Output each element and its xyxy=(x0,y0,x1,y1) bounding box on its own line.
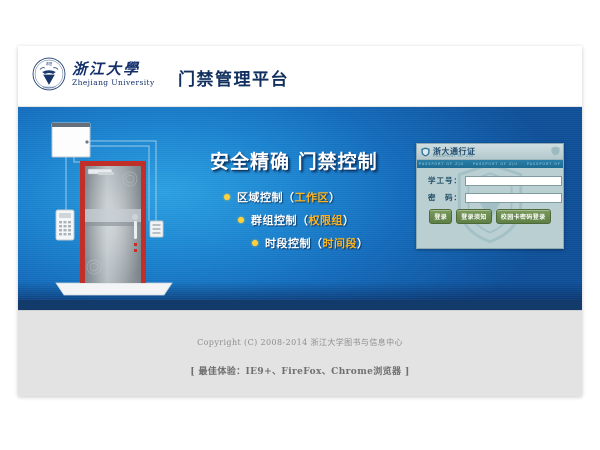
shield-icon xyxy=(551,146,560,156)
campus-card-login-button[interactable]: 校园卡密码登录 xyxy=(496,209,551,224)
feature-highlight: 时间段 xyxy=(323,235,358,251)
feature-label: 区域控制（ xyxy=(237,189,295,205)
page-card: 求是 ZHEJIANG 浙江大學 Zhejiang University 门禁管… xyxy=(18,46,582,396)
bullet-dot-icon xyxy=(252,240,258,246)
hero-headline: 安全精确 门禁控制 xyxy=(210,147,415,174)
bullet-dot-icon xyxy=(238,217,244,223)
brand-logo[interactable]: 求是 ZHEJIANG 浙江大學 Zhejiang University xyxy=(32,57,155,91)
strip-text: PASSPORT OF ZJU xyxy=(473,162,518,166)
feature-highlight: 工作区 xyxy=(295,189,330,205)
list-item: 时段控制（时间段） xyxy=(210,235,415,251)
feature-label: 群组控制（ xyxy=(251,212,309,228)
feature-label: 时段控制（ xyxy=(265,235,323,251)
login-button[interactable]: 登录 xyxy=(429,209,452,224)
list-item: 群组控制（权限组） xyxy=(210,212,415,228)
hero-slogan-block: 安全精确 门禁控制 区域控制（工作区） 群组控制（权限组） 时段控制（时间段） xyxy=(210,147,415,258)
strip-text: PASSPORT OF ZJU xyxy=(419,162,464,166)
feature-highlight: 权限组 xyxy=(309,212,344,228)
login-button-row: 登录 登录须知 校园卡密码登录 xyxy=(424,209,556,224)
page-title: 门禁管理平台 xyxy=(178,65,289,90)
site-footer: Copyright (C) 2008-2014 浙江大学图书与信息中心 [ 最佳… xyxy=(18,310,582,396)
login-form: 学工号： 密 码： 登录 登录须知 校园卡密码登录 xyxy=(417,168,563,224)
password-label: 密 码： xyxy=(424,192,465,203)
copyright-text: Copyright (C) 2008-2014 浙江大学图书与信息中心 xyxy=(18,311,582,348)
shield-icon xyxy=(421,147,430,157)
login-panel-subtitle: PASSPORT OF ZJU xyxy=(433,154,474,158)
svg-text:ZHEJIANG: ZHEJIANG xyxy=(42,87,55,90)
app-root: 求是 ZHEJIANG 浙江大學 Zhejiang University 门禁管… xyxy=(0,0,600,450)
password-row: 密 码： xyxy=(424,192,556,203)
banner-bottom-band xyxy=(18,300,582,310)
strip-text: PASSPORT OF ZJU xyxy=(527,162,563,166)
login-notice-button[interactable]: 登录须知 xyxy=(456,209,492,224)
list-item: 区域控制（工作区） xyxy=(210,189,415,205)
feature-tail: ） xyxy=(343,212,355,228)
hero-feature-list: 区域控制（工作区） 群组控制（权限组） 时段控制（时间段） xyxy=(210,189,415,251)
login-panel-header: 浙大通行证 PASSPORT OF ZJU xyxy=(417,144,563,160)
zju-seal-icon: 求是 ZHEJIANG xyxy=(32,57,66,91)
svg-text:求是: 求是 xyxy=(46,61,53,66)
feature-tail: ） xyxy=(329,189,341,205)
browser-support-note: [ 最佳体验：IE9+、FireFox、Chrome浏览器 ] xyxy=(18,348,582,377)
brand-name-cn: 浙江大學 xyxy=(72,62,155,77)
site-header: 求是 ZHEJIANG 浙江大學 Zhejiang University 门禁管… xyxy=(18,46,582,107)
brand-name-en: Zhejiang University xyxy=(72,79,155,87)
username-label: 学工号： xyxy=(424,175,465,186)
feature-tail: ） xyxy=(357,235,369,251)
password-field[interactable] xyxy=(465,193,562,203)
username-field[interactable] xyxy=(465,176,562,186)
passport-strip: PASSPORT OF ZJU PASSPORT OF ZJU PASSPORT… xyxy=(417,160,563,168)
username-row: 学工号： xyxy=(424,175,556,186)
hero-banner: 安全精确 门禁控制 区域控制（工作区） 群组控制（权限组） 时段控制（时间段） xyxy=(18,107,582,310)
bullet-dot-icon xyxy=(224,194,230,200)
access-control-door-illustration xyxy=(44,115,184,300)
login-panel: 浙大通行证 PASSPORT OF ZJU PASSPORT OF ZJU PA… xyxy=(416,143,564,249)
brand-wordmark: 浙江大學 Zhejiang University xyxy=(72,62,155,87)
